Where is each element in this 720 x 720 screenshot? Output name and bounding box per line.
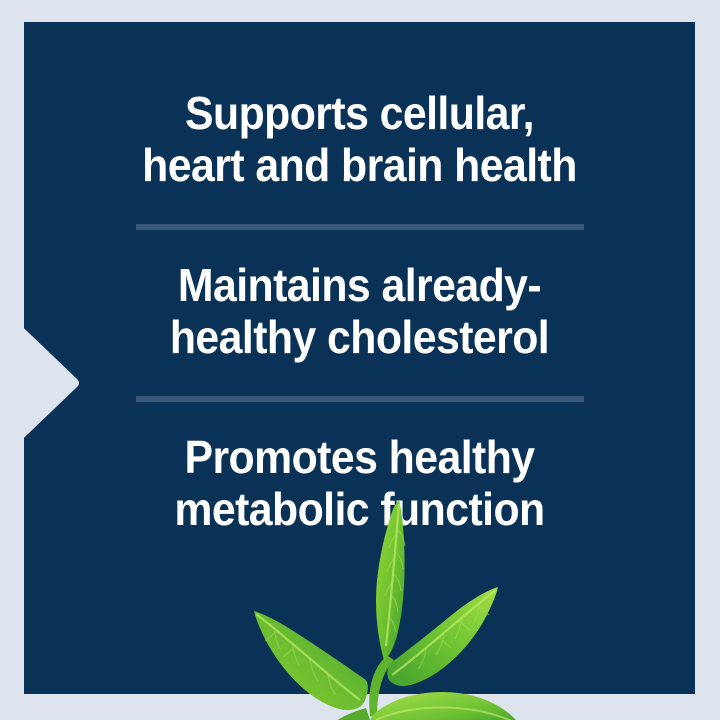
benefits-graphic: Supports cellular, heart and brain healt… xyxy=(0,0,720,720)
benefit-divider-1 xyxy=(136,224,584,230)
benefit-item-cellular-heart-brain: Supports cellular, heart and brain healt… xyxy=(81,88,638,191)
benefits-list: Supports cellular, heart and brain healt… xyxy=(24,22,695,694)
benefit-item-metabolic: Promotes healthy metabolic function xyxy=(81,432,638,535)
benefit-divider-2 xyxy=(136,396,584,402)
benefit-item-cholesterol: Maintains already- healthy cholesterol xyxy=(81,260,638,363)
